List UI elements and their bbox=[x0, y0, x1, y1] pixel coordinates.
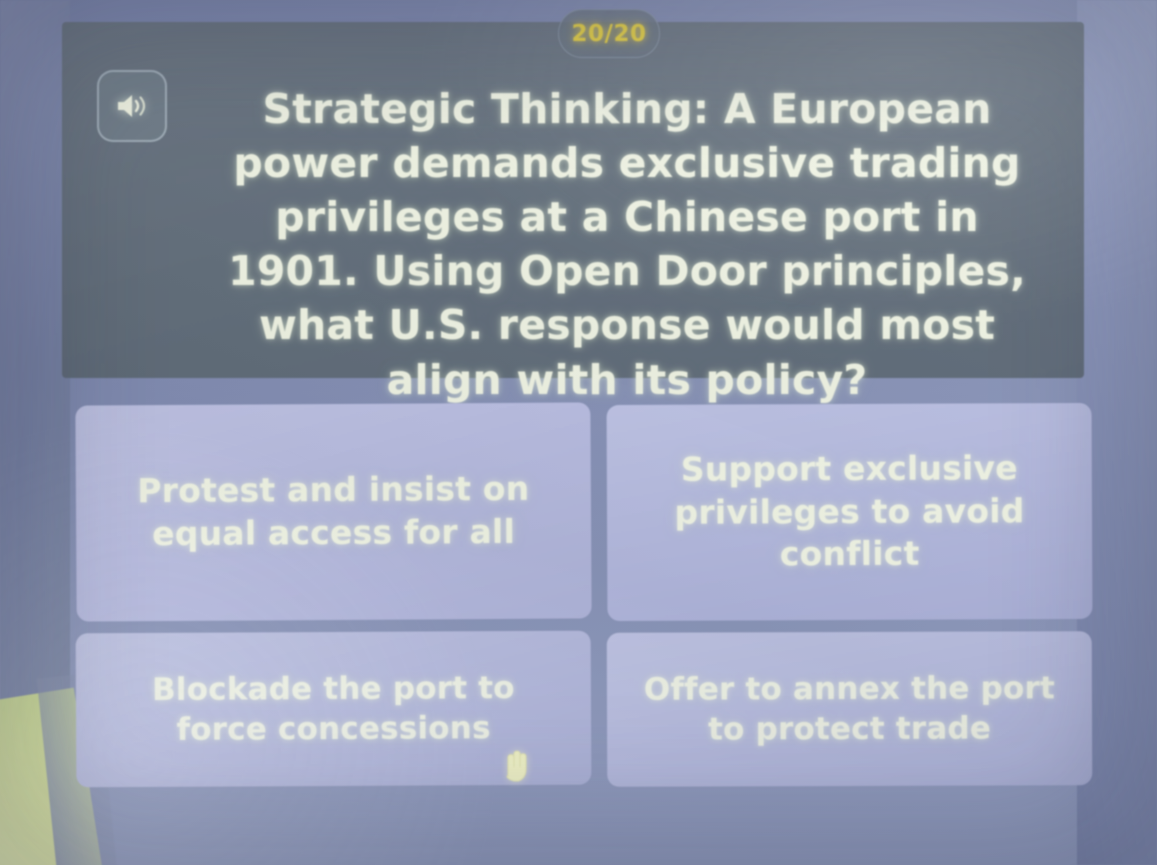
question-counter-label: 20/20 bbox=[572, 21, 647, 47]
answer-option-b-label: Support exclusive privileges to avoid co… bbox=[633, 447, 1067, 578]
answer-option-c-label: Blockade the port to force concessions bbox=[102, 667, 565, 750]
quiz-screen: Strategic Thinking: A European power dem… bbox=[62, 0, 1084, 865]
answer-option-a-label: Protest and insist on equal access for a… bbox=[102, 468, 566, 557]
hand-pointer-cursor bbox=[498, 748, 532, 790]
question-text: Strategic Thinking: A European power dem… bbox=[212, 82, 1042, 407]
photographed-screen: Strategic Thinking: A European power dem… bbox=[0, 0, 1157, 865]
speaker-icon bbox=[115, 91, 149, 121]
answer-option-d[interactable]: Offer to annex the port to protect trade bbox=[607, 631, 1093, 787]
answer-option-b[interactable]: Support exclusive privileges to avoid co… bbox=[607, 403, 1093, 621]
read-aloud-button[interactable] bbox=[97, 70, 167, 142]
answer-options-grid: Protest and insist on equal access for a… bbox=[76, 404, 1076, 786]
screen-content-layer: Strategic Thinking: A European power dem… bbox=[0, 0, 1157, 865]
question-counter-badge: 20/20 bbox=[558, 9, 660, 58]
answer-option-d-label: Offer to annex the port to protect trade bbox=[633, 668, 1066, 750]
answer-option-a[interactable]: Protest and insist on equal access for a… bbox=[75, 402, 591, 621]
question-panel: Strategic Thinking: A European power dem… bbox=[62, 22, 1084, 378]
